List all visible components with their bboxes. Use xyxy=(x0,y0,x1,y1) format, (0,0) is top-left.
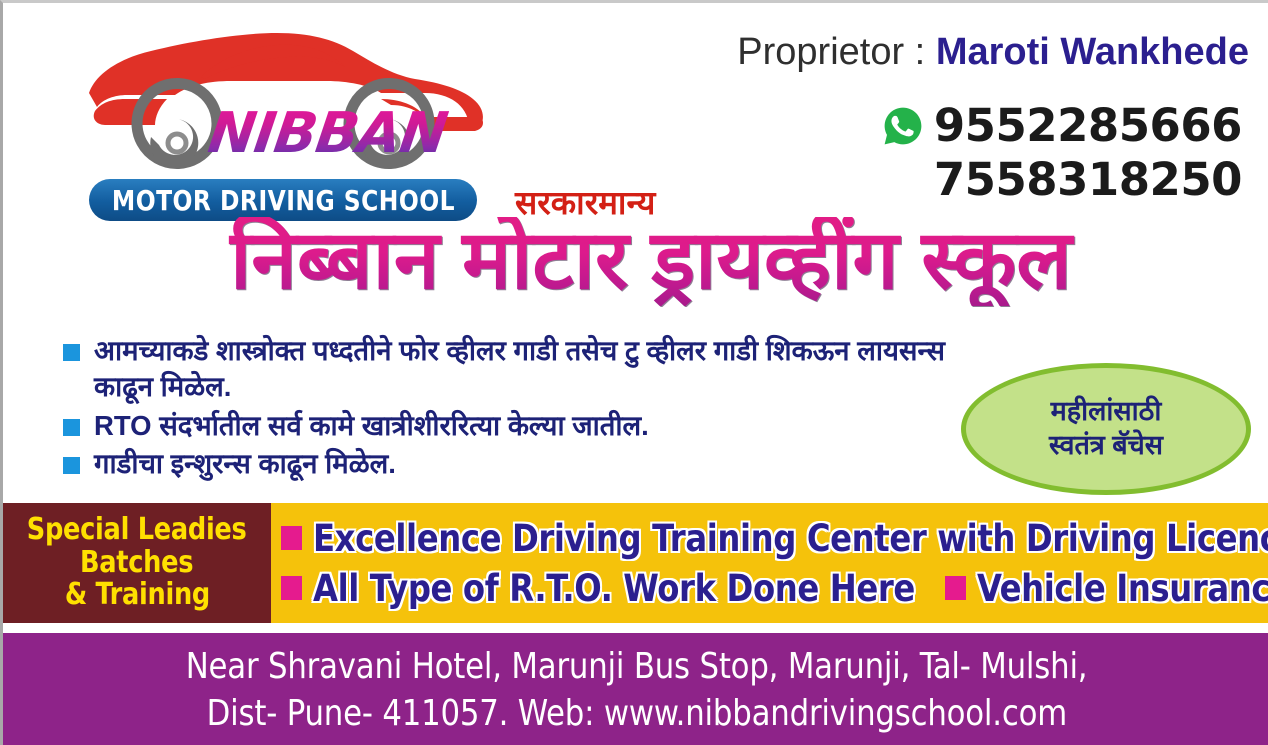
proprietor-line: Proprietor : Maroti Wankhede xyxy=(623,31,1249,74)
logo-subtitle-text: MOTOR DRIVING SCHOOL xyxy=(111,184,454,217)
special-ladies-line1: Special Leadies xyxy=(27,514,247,546)
page-title: निब्बान मोटार ड्रायव्हींग स्कूल xyxy=(91,217,1211,306)
square-bullet-icon xyxy=(63,344,80,361)
service-text: Excellence Driving Training Center with … xyxy=(313,517,1268,560)
special-ladies-box: Special Leadies Batches & Training xyxy=(3,503,271,623)
brand-wordmark: NIBBAN xyxy=(204,101,450,166)
phone-secondary-row[interactable]: 7558318250 xyxy=(934,153,1242,206)
feature-text: आमच्याकडे शास्त्रोक्त पध्दतीने फोर व्हील… xyxy=(94,333,963,406)
list-item: आमच्याकडे शास्त्रोक्त पध्दतीने फोर व्हील… xyxy=(63,333,963,406)
proprietor-label: Proprietor : xyxy=(737,31,936,73)
special-ladies-line3: & Training xyxy=(64,579,209,611)
special-ladies-line2: Batches xyxy=(80,547,193,579)
ladies-badge-line2: स्वतंत्र बॅचेस xyxy=(1049,429,1163,463)
proprietor-name: Maroti Wankhede xyxy=(936,31,1249,73)
feature-text: गाडीचा इन्शुरन्स काढून मिळेल. xyxy=(94,446,396,482)
list-item: गाडीचा इन्शुरन्स काढून मिळेल. xyxy=(63,446,963,482)
square-bullet-icon xyxy=(63,457,80,474)
services-yellow-box: Excellence Driving Training Center with … xyxy=(271,503,1268,623)
service-text: All Type of R.T.O. Work Done Here xyxy=(313,567,915,610)
square-bullet-icon xyxy=(945,576,966,600)
address-line2: Dist- Pune- 411057. Web: www.nibbandrivi… xyxy=(207,691,1067,738)
phone-primary[interactable]: 9552285666 xyxy=(934,99,1242,152)
feature-text: RTO संदर्भातील सर्व कामे खात्रीशीररित्या… xyxy=(94,408,649,444)
phone-secondary[interactable]: 7558318250 xyxy=(934,153,1242,206)
company-logo: NIBBAN MOTOR DRIVING SCHOOL xyxy=(81,25,511,215)
whatsapp-icon xyxy=(882,105,924,147)
service-row: All Type of R.T.O. Work Done Here Vehicl… xyxy=(281,567,1268,610)
address-footer: Near Shravani Hotel, Marunji Bus Stop, M… xyxy=(3,633,1268,745)
ladies-badge-line1: महीलांसाठी xyxy=(1051,395,1162,429)
feature-list: आमच्याकडे शास्त्रोक्त पध्दतीने फोर व्हील… xyxy=(63,333,963,484)
business-card: NIBBAN MOTOR DRIVING SCHOOL Proprietor :… xyxy=(0,0,1268,745)
services-band: Special Leadies Batches & Training Excel… xyxy=(3,503,1268,623)
phone-primary-row[interactable]: 9552285666 xyxy=(882,99,1242,152)
square-bullet-icon xyxy=(281,576,302,600)
square-bullet-icon xyxy=(63,419,80,436)
square-bullet-icon xyxy=(281,526,302,550)
list-item: RTO संदर्भातील सर्व कामे खात्रीशीररित्या… xyxy=(63,408,963,444)
service-row: Excellence Driving Training Center with … xyxy=(281,517,1268,560)
ladies-batches-badge: महीलांसाठी स्वतंत्र बॅचेस xyxy=(961,363,1251,495)
address-line1: Near Shravani Hotel, Marunji Bus Stop, M… xyxy=(186,644,1088,691)
service-text: Vehicle Insurance xyxy=(977,567,1268,610)
